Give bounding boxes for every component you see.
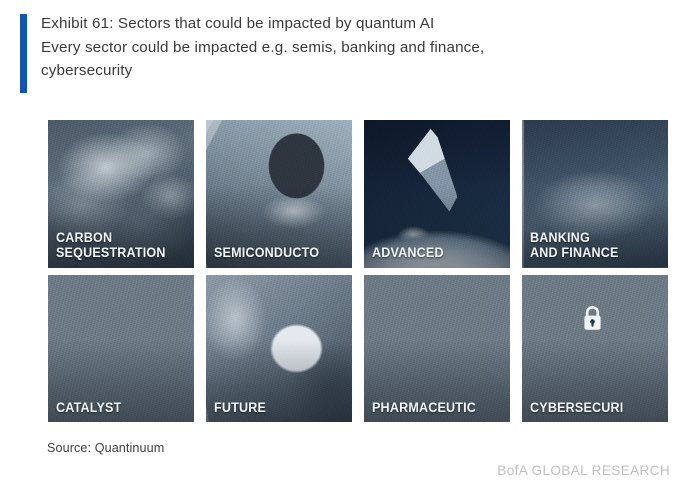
sector-tile-label: BANKING AND FINANCE [530, 230, 655, 261]
sector-tile-label: CYBERSECURI [530, 400, 655, 416]
sector-tile-semiconductors[interactable]: SEMICONDUCTO [206, 120, 352, 268]
sector-tile-label: FUTURE [214, 400, 339, 416]
sector-tile-future[interactable]: FUTURE [206, 275, 352, 423]
blue-accent-bar [20, 14, 27, 93]
exhibit-subtitle-line-2: cybersecurity [41, 59, 641, 83]
sector-tile-label: SEMICONDUCTO [214, 245, 339, 261]
sector-tile-label: CATALYST [56, 400, 181, 416]
research-attribution: BofA GLOBAL RESEARCH [497, 463, 670, 478]
source-note: Source: Quantinuum [47, 441, 164, 455]
sector-tile-pharmaceuticals[interactable]: PHARMACEUTIC [364, 275, 510, 423]
exhibit-title: Exhibit 61: Sectors that could be impact… [41, 12, 641, 36]
sector-tile-carbon-sequestration[interactable]: CARBON SEQUESTRATION [48, 120, 194, 268]
exhibit-header: Exhibit 61: Sectors that could be impact… [0, 0, 680, 110]
sector-tile-label: CARBON SEQUESTRATION [56, 230, 181, 261]
sector-tile-catalyst[interactable]: CATALYST [48, 275, 194, 423]
exhibit-title-block: Exhibit 61: Sectors that could be impact… [41, 12, 641, 83]
sector-tile-advanced[interactable]: ADVANCED [364, 120, 510, 268]
sector-tile-cybersecurity[interactable]: CYBERSECURI [522, 275, 668, 423]
sector-tile-banking-and-finance[interactable]: BANKING AND FINANCE [522, 120, 668, 268]
sector-tile-label: PHARMACEUTIC [372, 400, 497, 416]
sector-image-grid: CARBON SEQUESTRATION SEMICONDUCTO ADVANC… [48, 120, 668, 422]
sector-tile-label: ADVANCED [372, 245, 497, 261]
exhibit-subtitle-line-1: Every sector could be impacted e.g. semi… [41, 36, 641, 60]
